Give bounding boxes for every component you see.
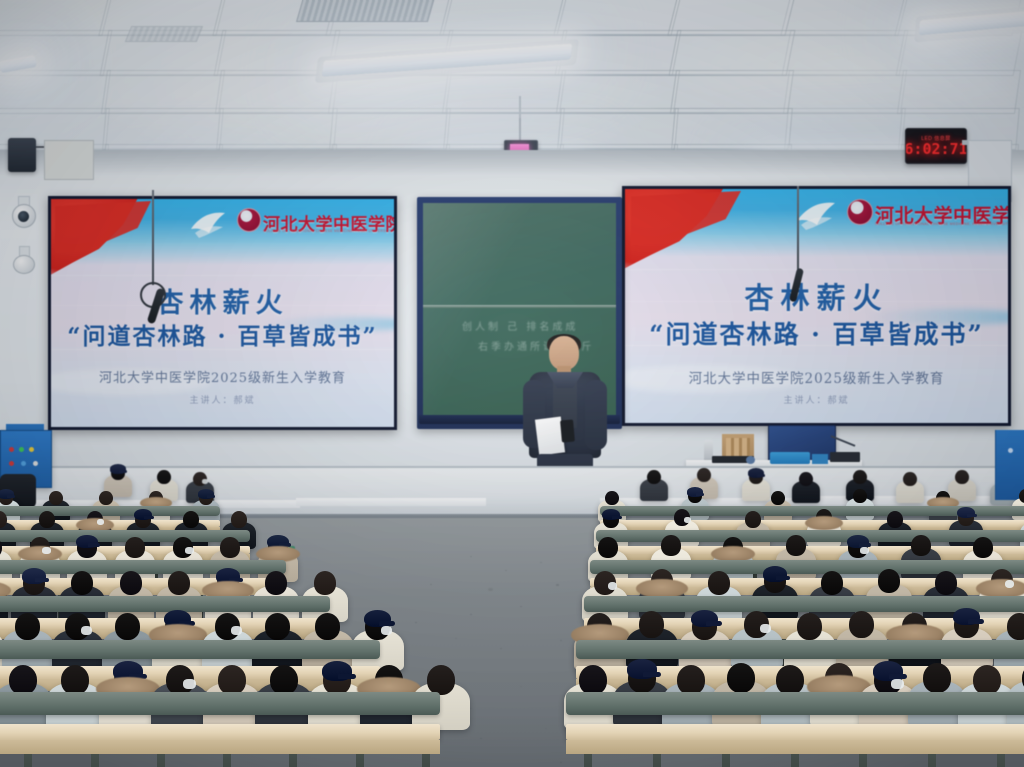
air-vent [296,0,436,22]
student-cap-brim [967,514,977,517]
student-head [270,665,298,695]
slide-left: 河北大学中医学院 COLLEGE OF TRADITIONAL CHINESE … [51,199,394,427]
student-face-mask [42,547,51,554]
air-vent-secondary [125,26,203,42]
floor-speck [520,686,522,687]
floor-speck [545,728,547,729]
student-head [61,665,89,695]
ceiling-fan-rod [519,96,521,118]
student-head [903,472,917,486]
microphone-cable-left [152,190,154,285]
student-head [9,665,37,695]
student-head [821,571,843,595]
student-cap-brim [696,493,704,495]
student-head [776,665,804,695]
student-cap-brim [7,495,15,497]
slide-right: 河北大学中医学院 COLLEGE OF TRADITIONAL CHINESE … [625,189,1008,423]
student-head [99,491,113,505]
student-head [745,511,761,528]
college-emblem-right [847,199,873,225]
wall-top-shadow [0,150,1024,176]
blue-equipment-case [770,452,810,464]
student [640,470,668,507]
seat-back [0,596,330,612]
student-face-mask [891,679,903,689]
student-head [265,613,290,640]
student-head [1007,613,1024,640]
student-face-mask [231,626,242,635]
left-led-screen[interactable]: 河北大学中医学院 COLLEGE OF TRADITIONAL CHINESE … [48,196,397,430]
desk-front-panel [0,740,440,754]
floor-speck [470,614,472,615]
student-head [71,571,93,595]
student-head [786,535,805,556]
seat-back [576,640,1024,659]
presenter-phone [560,419,575,442]
slide-subtitle-right: 河北大学中医学院2025级新生入学教育 [625,367,1008,387]
student-head [697,468,711,482]
desk-surface [0,724,440,740]
desk-surface-far [296,498,486,506]
cabinet-button-red[interactable] [9,447,14,452]
student-head [120,571,142,595]
slide-subheading-right: “问道杏林路 · 百草皆成书” [625,315,1008,351]
presenter-arm-right [585,380,607,450]
student-head [218,665,246,695]
floor-speck [500,648,502,649]
student-head [579,665,607,695]
student-head [797,613,822,640]
slide-byline: 主讲人：郝斌 [51,393,394,406]
student-face-mask [202,479,208,484]
student-head [973,665,1001,695]
cabinet-button-green[interactable] [19,447,24,452]
student-head [727,663,755,693]
floor-speck [505,570,507,571]
student-head [923,663,951,693]
student-head [973,537,992,558]
seat-back [0,640,380,659]
student-cap-brim [757,474,765,476]
floor-speck [488,588,493,591]
cabinet-button-yellow[interactable] [29,447,34,452]
college-emblem [237,208,261,232]
student-head [661,535,680,556]
floor-speck [540,562,542,563]
student-face-mask [860,547,869,554]
student [896,472,924,509]
student-head [935,571,957,595]
desk-object [746,456,755,464]
slide-subheading: “问道杏林路 · 百草皆成书” [51,317,394,351]
floor-speck [560,640,562,641]
slide-heading: 杏林薪火 [51,281,394,320]
camera-dome-lower [13,255,35,274]
student-cap-brim [612,516,622,519]
student-cap-brim [706,621,722,626]
student-head [427,665,455,695]
student-head [125,537,144,558]
student-cap-brim [379,621,395,626]
right-led-screen[interactable]: 河北大学中医学院 COLLEGE OF TRADITIONAL CHINESE … [622,186,1011,426]
student-cap-brim [643,672,660,677]
cabinet-button-white[interactable] [33,461,38,466]
microphone-cable-right [797,186,799,274]
student-head [265,571,287,595]
student-head [647,470,661,484]
seat-back [0,692,440,715]
student-head [708,571,730,595]
seat-back [566,692,1024,715]
led-clock-time: 6:02:71 [905,142,967,157]
student-head [853,489,867,503]
student-head [955,470,969,484]
desk-surface [566,724,1024,740]
student-head [168,571,190,595]
led-clock-display: LED 信息屏 6:02:71 [905,128,967,164]
student-head [315,613,340,640]
floor-speck [560,762,562,763]
cabinet-button-red-2[interactable] [9,461,14,466]
hanging-device-rod [519,118,521,142]
stage-top-edge [0,466,1024,468]
student-head [849,611,874,638]
student-head [15,613,40,640]
black-box [830,452,860,462]
dove-graphic [185,207,233,241]
student-cap-brim [338,674,355,679]
student-head [314,571,336,595]
student-face-mask [381,626,392,635]
student-head [115,613,140,640]
student-head [157,470,171,484]
floor-speck [415,622,417,623]
student-cap-brim [968,619,984,624]
student-cap-brim [889,674,906,679]
student-cap-brim [88,543,100,546]
slide-stripe-1-right [625,269,1008,270]
wall-speaker [8,138,36,172]
student-face-mask [183,679,195,689]
security-camera-lower [12,246,36,282]
blue-equipment-case-small [812,454,828,464]
wall-control-box [44,140,94,180]
student [792,472,820,509]
student-head [231,511,247,528]
college-logo-subtext-right: COLLEGE OF TRADITIONAL CHINESE MEDICINE,… [875,222,1008,226]
slide-heading-right: 杏林薪火 [625,275,1008,317]
student-cap-brim [144,516,154,519]
floor-speck [455,638,457,639]
slide-byline-right: 主讲人：郝斌 [625,393,1008,406]
college-logo-subtext: COLLEGE OF TRADITIONAL CHINESE MEDICINE,… [263,229,392,233]
student-head [911,535,930,556]
student-head [853,470,867,484]
student-face-mask [185,547,194,554]
student-head [605,491,619,505]
student-head [771,491,785,505]
student-head [220,537,239,558]
floor-speck [480,738,482,739]
student-head [598,537,617,558]
slide-stripe-1 [51,275,394,276]
floor-speck [470,708,472,709]
student-cap-brim [207,495,215,497]
student-face-mask [81,626,92,635]
security-camera-upper [10,196,36,236]
camera-lens [18,211,29,222]
floor-speck [520,606,522,607]
student-head [887,511,903,528]
slide-subtitle: 河北大学中医学院2025级新生入学教育 [51,367,394,386]
student-head [639,611,664,638]
cabinet-button-blue[interactable] [21,461,26,466]
student-head [183,511,199,528]
floor-speck [470,556,472,557]
student-head [39,511,55,528]
student-head [677,665,705,695]
student-cap-brim [119,470,127,472]
student-head [878,569,900,593]
student-cap-brim [35,578,49,582]
lecture-hall-photo: LED 信息屏 6:02:71 河北大学中医学院 COLLEGE OF TRAD… [0,0,1024,767]
student-head [49,491,63,505]
presenter-head [549,336,579,370]
student-cap-brim [776,576,790,580]
floor-speck [430,584,432,585]
panel-indicator [1008,448,1013,453]
student-head [799,472,813,486]
desk-front-panel [566,740,1024,754]
student-face-mask [760,624,771,633]
slide-band-fade [51,243,394,265]
floor-speck [556,584,559,586]
